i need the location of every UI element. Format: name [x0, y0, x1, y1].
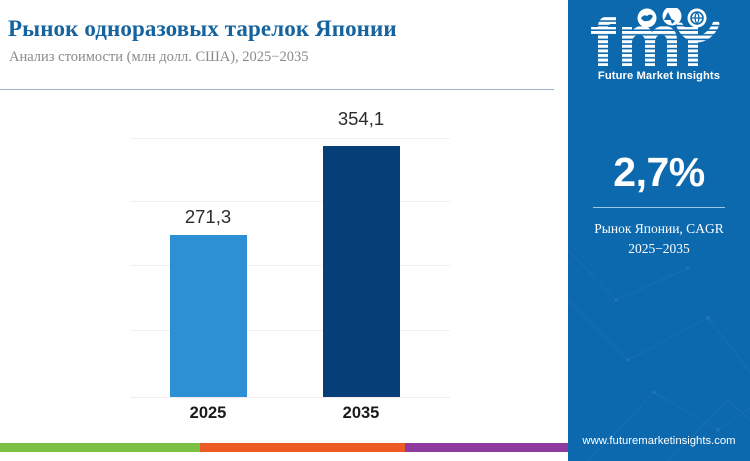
bar-value-2035: 354,1: [301, 108, 421, 130]
infographic-page: Рынок одноразовых тарелок Японии Анализ …: [0, 0, 750, 461]
bar-chart: 271,3 354,1 2025 2035: [130, 130, 450, 398]
footer-color-strip: [0, 443, 568, 452]
gridline: [130, 201, 450, 202]
cagr-period: 2025−2035: [568, 239, 750, 259]
cagr-value: 2,7%: [568, 152, 750, 193]
logo-globe-icons: [638, 8, 707, 28]
brand-panel: Future Market Insights 2,7% Рынок Японии…: [568, 0, 750, 461]
axis-baseline: [130, 397, 450, 398]
header-divider: [0, 89, 554, 90]
cagr-callout: 2,7% Рынок Японии, CAGR 2025−2035: [568, 152, 750, 260]
category-label-2035: 2035: [301, 404, 421, 423]
strip-segment-green: [0, 443, 200, 452]
cagr-label: Рынок Японии, CAGR: [568, 219, 750, 239]
bar-value-2025: 271,3: [148, 206, 268, 228]
website-url[interactable]: www.futuremarketinsights.com: [568, 435, 750, 447]
gridline: [130, 138, 450, 139]
page-subtitle: Анализ стоимости (млн долл. США), 2025−2…: [9, 49, 309, 66]
category-label-2025: 2025: [148, 404, 268, 423]
cagr-divider: [593, 207, 725, 208]
strip-segment-purple: [405, 443, 568, 452]
content-area: Рынок одноразовых тарелок Японии Анализ …: [0, 0, 568, 452]
fmi-logo-tagline: Future Market Insights: [568, 70, 750, 82]
fmi-logo[interactable]: Future Market Insights: [568, 8, 750, 82]
fmi-logo-mark: [584, 8, 734, 68]
bar-2035[interactable]: [323, 146, 400, 397]
strip-segment-orange: [200, 443, 405, 452]
page-title: Рынок одноразовых тарелок Японии: [8, 16, 397, 42]
bar-2025[interactable]: [170, 235, 247, 397]
fmi-wordmark-icon: [584, 8, 734, 68]
